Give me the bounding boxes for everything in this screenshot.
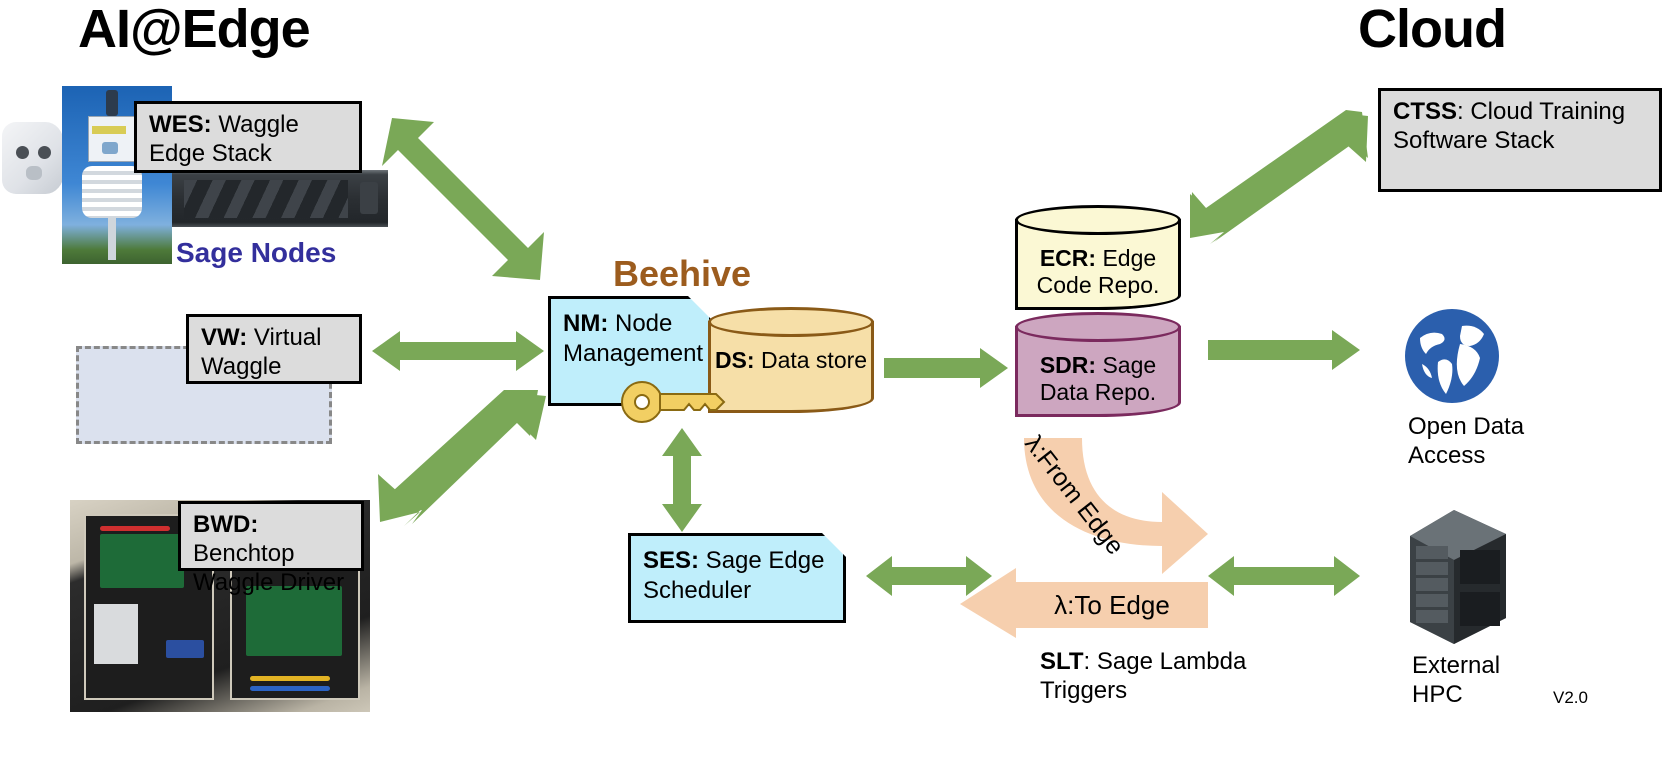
ds-label: DS: Data store [708,347,874,375]
wes-box[interactable]: WES: Waggle Edge Stack [134,101,362,173]
slt-label: SLT: Sage Lambda Triggers [1040,648,1270,706]
sdr-label: SDR: Sage Data Repo. [1015,352,1181,407]
sage-nodes-label: Sage Nodes [176,239,336,267]
arrow-beehive-to-sdr [884,348,1008,388]
open-data-access-label: Open Data Access [1408,413,1588,471]
arrow-sdr-to-open-data [1208,330,1360,370]
ctss-box[interactable]: CTSS: Cloud Training Software Stack [1378,88,1662,192]
diagram-canvas: AI@Edge Cloud Beehive Sage Nodes WES: Wa… [0,0,1666,768]
globe-icon [1404,308,1500,404]
wes-abbr: WES: [149,111,212,138]
arrow-ecr-to-ctss [1190,110,1372,252]
lambda-from-edge-arrow: λ:From Edge [1012,438,1210,574]
lambda-to-edge-text: λ:To Edge [1054,590,1170,620]
ses-box[interactable]: SES: Sage Edge Scheduler [628,533,846,623]
vw-abbr: VW: [201,324,247,351]
arrow-wes-to-beehive [382,108,550,290]
nm-abbr: NM: [563,310,608,337]
lambda-to-edge-arrow: λ:To Edge [960,568,1208,638]
slt-abbr: SLT [1040,648,1084,675]
ecr-abbr: ECR: [1040,245,1096,271]
ds-text: Data store [755,347,868,373]
external-hpc-label: External HPC [1412,652,1542,710]
dell-server-photo [172,170,388,227]
sdr-abbr: SDR: [1040,352,1096,378]
camera-photo [2,122,64,194]
beehive-group-title: Beehive [613,256,751,292]
sdr-cylinder[interactable]: SDR: Sage Data Repo. [1015,312,1181,417]
arrow-nm-to-ses [662,428,702,532]
ds-abbr: DS: [715,347,755,373]
bwd-abbr: BWD: [193,511,258,538]
ses-abbr: SES: [643,547,699,574]
arrow-vw-to-beehive [372,331,544,371]
bwd-box[interactable]: BWD: Benchtop Waggle Driver [178,501,364,571]
arrow-bwd-to-beehive [378,390,548,530]
page-title-ai-at-edge: AI@Edge [78,2,310,56]
page-title-cloud: Cloud [1358,2,1506,56]
hpc-rack-icon [1402,506,1514,646]
bwd-text: Benchtop Waggle Driver [193,540,344,596]
ecr-label: ECR: Edge Code Repo. [1015,245,1181,300]
ecr-cylinder[interactable]: ECR: Edge Code Repo. [1015,205,1181,310]
arrow-lambda-to-hpc [1208,556,1360,596]
ctss-abbr: CTSS [1393,98,1457,125]
vw-box[interactable]: VW: Virtual Waggle [186,314,362,384]
key-icon [620,378,738,426]
version-tag: V2.0 [1553,688,1588,708]
